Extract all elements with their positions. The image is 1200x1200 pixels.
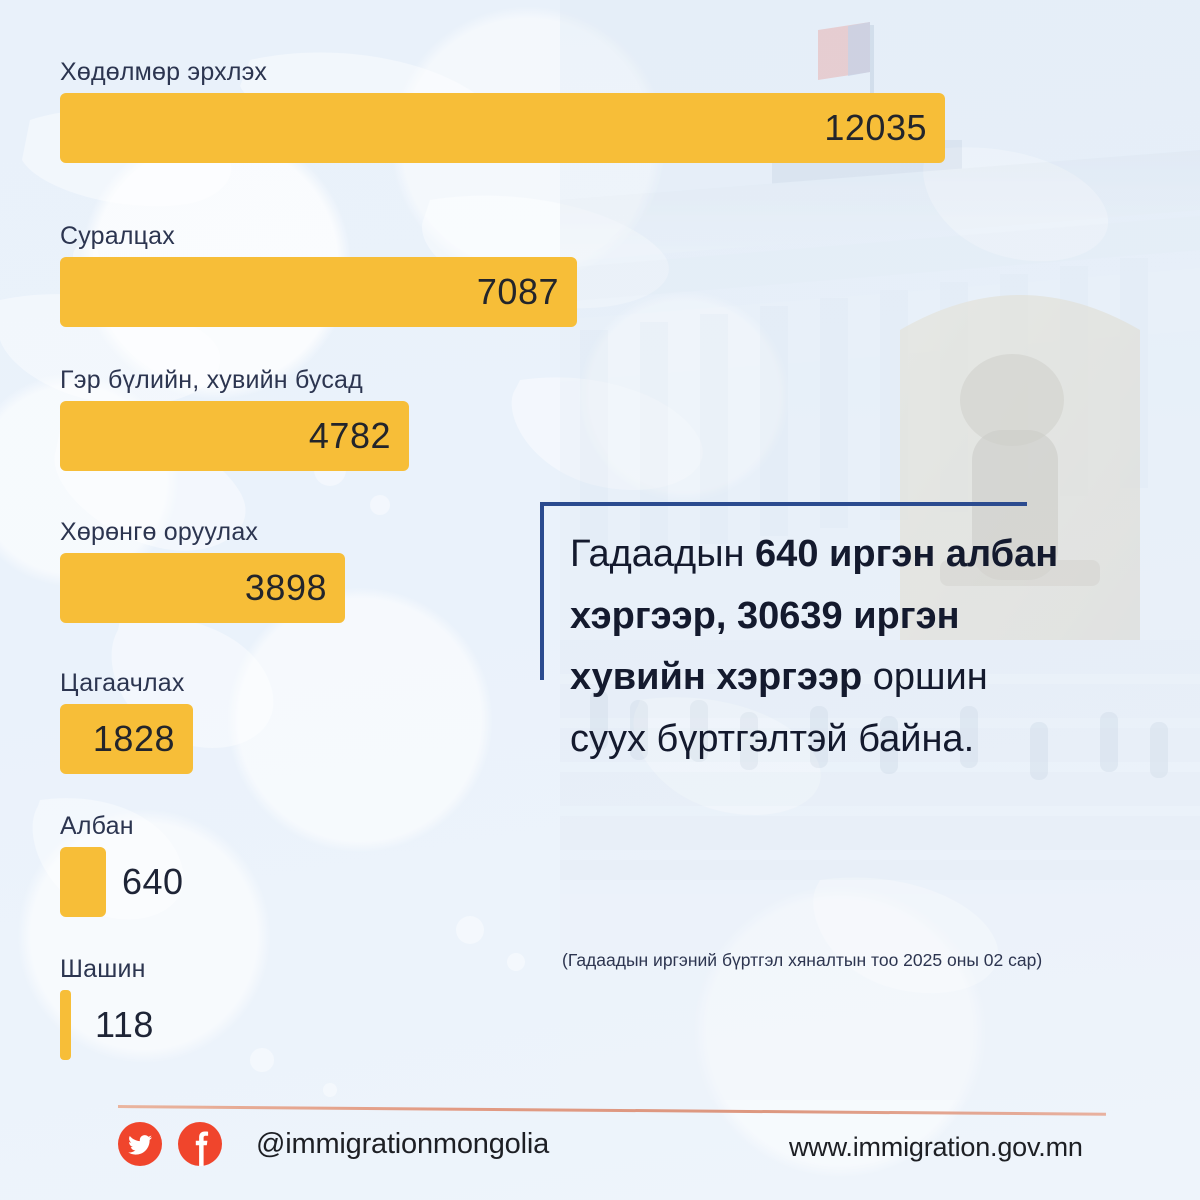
bar-row: 12035	[60, 93, 945, 163]
bar-rect: 4782	[60, 401, 409, 471]
bar-row: 3898	[60, 553, 345, 623]
callout-text: Гадаадын 640 иргэн албан хэргээр, 30639 …	[540, 502, 1070, 770]
social-links: @immigrationmongolia	[118, 1122, 549, 1166]
footer-divider	[118, 1105, 1106, 1116]
bar-label: Шашин	[60, 955, 154, 984]
bar-group: Гэр бүлийн, хувийн бусад 4782	[60, 366, 409, 471]
bar-row: 4782	[60, 401, 409, 471]
twitter-icon[interactable]	[118, 1122, 162, 1166]
bar-label: Гэр бүлийн, хувийн бусад	[60, 366, 409, 395]
bar-group: Цагаачлах 1828	[60, 669, 193, 774]
callout-source-note: (Гадаадын иргэний бүртгэл хяналтын тоо 2…	[562, 950, 1200, 971]
bar-label: Суралцах	[60, 222, 577, 251]
bar-value: 12035	[824, 107, 927, 149]
facebook-icon[interactable]	[178, 1122, 222, 1166]
bar-value: 1828	[93, 718, 175, 760]
bar-group: Албан 640	[60, 812, 184, 917]
bar-rect: 7087	[60, 257, 577, 327]
bar-rect: 3898	[60, 553, 345, 623]
bar-label: Хөрөнгө оруулах	[60, 518, 345, 547]
bar-label: Хөдөлмөр эрхлэх	[60, 58, 945, 87]
bar-rect: 12035	[60, 93, 945, 163]
footer: @immigrationmongolia www.immigration.gov…	[0, 1118, 1200, 1188]
bar-rect: 1828	[60, 704, 193, 774]
bar-row: 118	[60, 990, 154, 1060]
bar-value: 118	[71, 1004, 154, 1046]
bar-row: 1828	[60, 704, 193, 774]
bar-group: Шашин 118	[60, 955, 154, 1060]
bar-row: 640	[60, 847, 184, 917]
social-handle[interactable]: @immigrationmongolia	[256, 1128, 549, 1161]
bar-group: Хөдөлмөр эрхлэх 12035	[60, 58, 945, 163]
bar-rect	[60, 990, 71, 1060]
bar-group: Хөрөнгө оруулах 3898	[60, 518, 345, 623]
callout-text-plain-1: Гадаадын	[570, 533, 755, 575]
bar-value: 640	[106, 861, 184, 903]
infographic-canvas: Хөдөлмөр эрхлэх 12035 Суралцах 7087 Гэр …	[0, 0, 1200, 1200]
bar-label: Албан	[60, 812, 184, 841]
bar-value: 3898	[245, 567, 327, 609]
callout-block: Гадаадын 640 иргэн албан хэргээр, 30639 …	[540, 502, 1160, 770]
bar-label: Цагаачлах	[60, 669, 193, 698]
bar-group: Суралцах 7087	[60, 222, 577, 327]
website-url[interactable]: www.immigration.gov.mn	[789, 1132, 1083, 1163]
bar-row: 7087	[60, 257, 577, 327]
bar-value: 7087	[477, 271, 559, 313]
bar-rect	[60, 847, 106, 917]
bar-value: 4782	[309, 415, 391, 457]
